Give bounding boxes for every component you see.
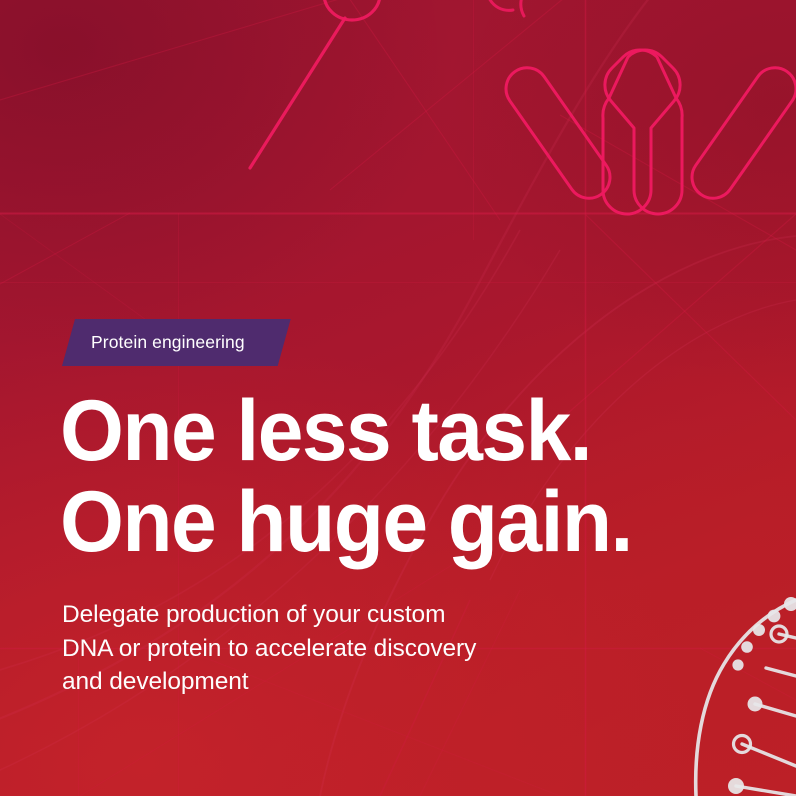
eyebrow-label: Protein engineering (91, 332, 245, 353)
subheadline: Delegate production of your custom DNA o… (62, 598, 622, 699)
subheadline-line-1: Delegate production of your custom (62, 598, 622, 632)
eyebrow-badge: Protein engineering (62, 319, 291, 366)
promo-banner: Protein engineering One less task. One h… (0, 0, 796, 796)
headline-line-1: One less task. (60, 386, 748, 477)
headline-line-2: One huge gain. (60, 477, 748, 568)
subheadline-line-3: and development (62, 665, 622, 699)
subheadline-line-2: DNA or protein to accelerate discovery (62, 632, 622, 666)
headline: One less task. One huge gain. (60, 386, 748, 568)
banner-content: Protein engineering One less task. One h… (0, 0, 796, 796)
